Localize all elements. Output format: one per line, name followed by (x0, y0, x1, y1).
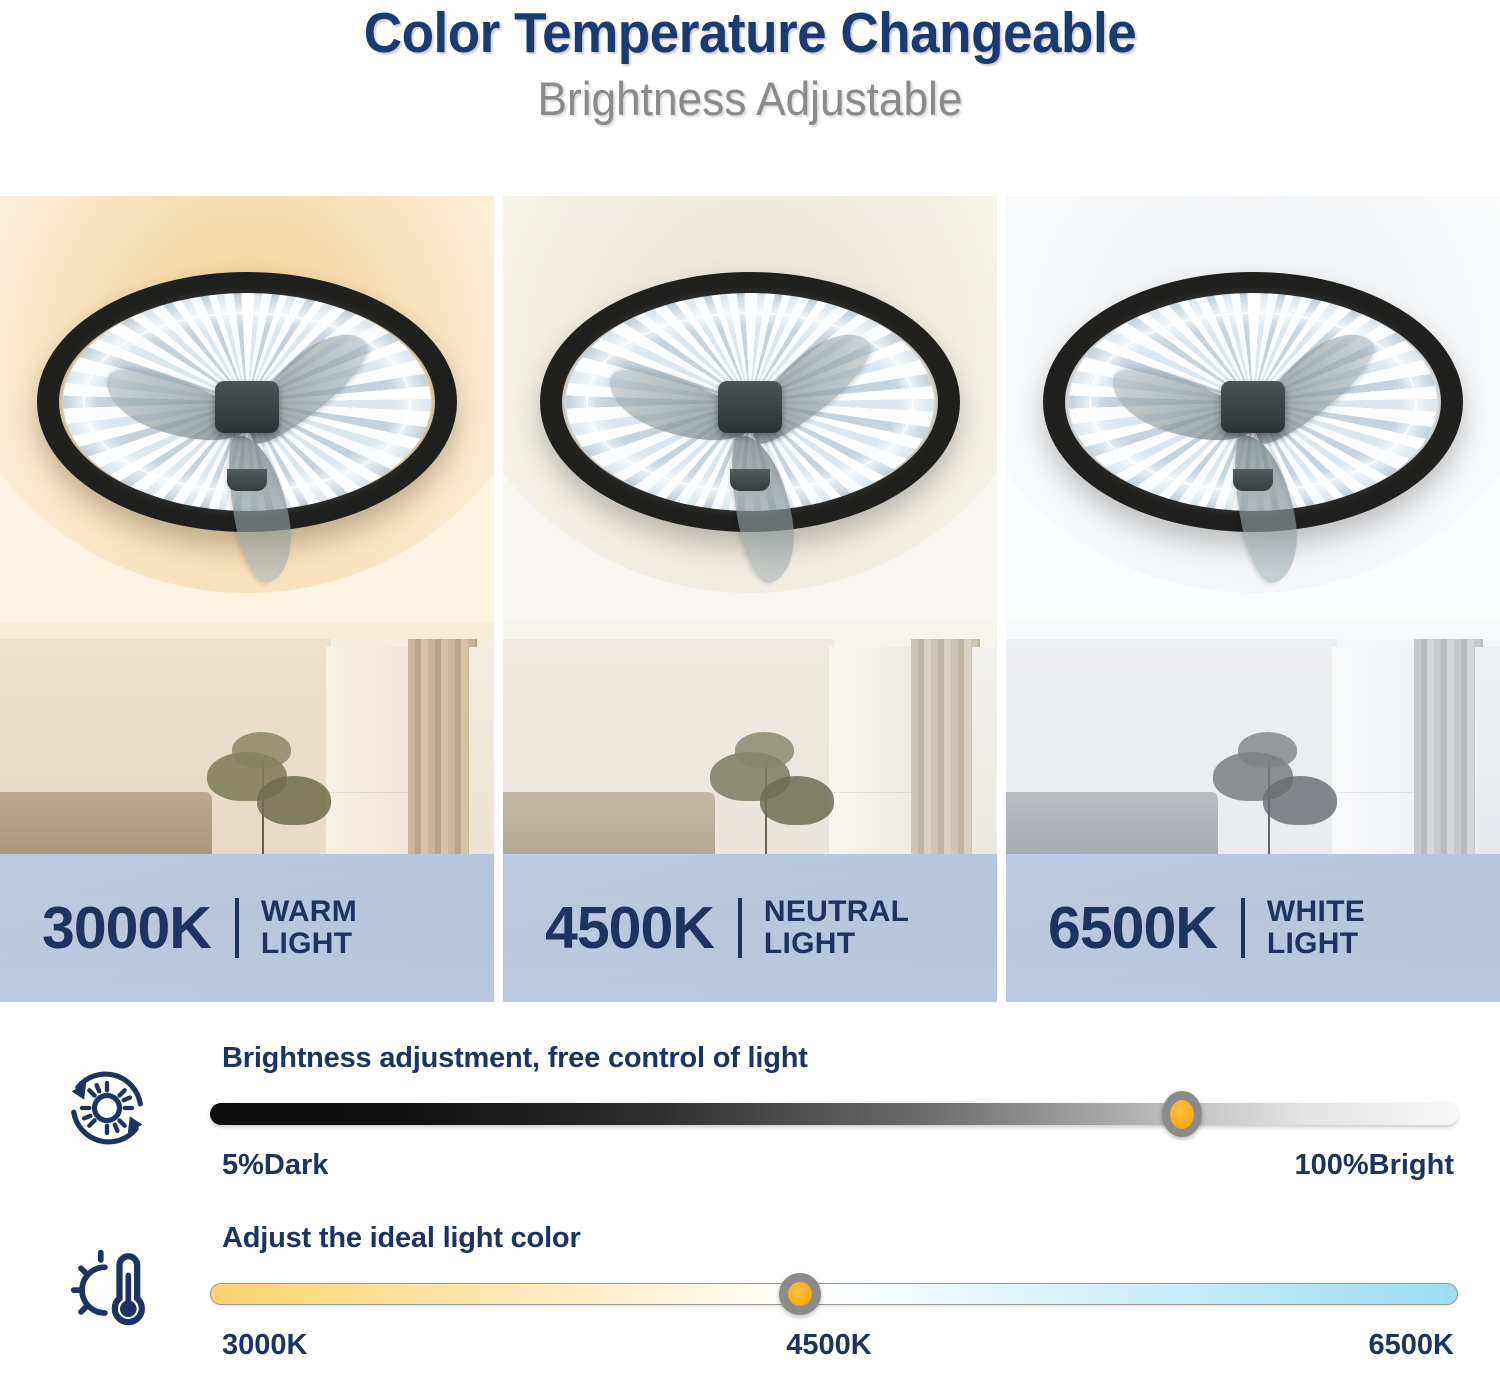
color-temperature-slider[interactable] (200, 1277, 1458, 1311)
controls-section: Brightness adjustment, free control of l… (0, 1030, 1500, 1390)
panel-4500k: 4500K NEUTRAL LIGHT (503, 196, 997, 1002)
light-type-label: WARM LIGHT (261, 896, 357, 961)
color-temp-mid-label: 4500K (786, 1329, 871, 1362)
color-temperature-control-row: Adjust the ideal light color 3000K 4500K… (0, 1210, 1500, 1390)
light-type-line-1: WARM (261, 896, 357, 928)
panel-3000k: 3000K WARM LIGHT (0, 196, 494, 1002)
color-temperature-slider-thumb[interactable] (779, 1273, 821, 1315)
plant-leaves (232, 732, 291, 768)
brightness-slider[interactable] (200, 1097, 1458, 1131)
page-title: Color Temperature Changeable (53, 4, 1448, 62)
sun-thermometer-icon (55, 1236, 159, 1340)
light-type-label: WHITE LIGHT (1267, 896, 1365, 961)
divider (235, 898, 239, 958)
plant-leaves (735, 732, 794, 768)
fan-hub-cap (730, 469, 770, 491)
header: Color Temperature Changeable Brightness … (0, 0, 1500, 129)
color-temperature-scale: 3000K 4500K 6500K (200, 1329, 1458, 1367)
plant-leaves (1238, 732, 1297, 768)
brightness-control-body: Brightness adjustment, free control of l… (200, 1030, 1458, 1187)
brightness-scale: 5%Dark 100%Bright (200, 1149, 1458, 1187)
light-type-label: NEUTRAL LIGHT (764, 896, 909, 961)
page-subtitle: Brightness Adjustable (45, 70, 1455, 129)
fan-motor-hub (1221, 381, 1285, 433)
panel-6500k: 6500K WHITE LIGHT (1006, 196, 1500, 1002)
color-temperature-panels: 3000K WARM LIGHT (0, 196, 1500, 1002)
plant-leaves (760, 776, 834, 824)
kelvin-value: 3000K (42, 899, 211, 958)
kelvin-value: 4500K (545, 899, 714, 958)
brightness-heading: Brightness adjustment, free control of l… (222, 1042, 1458, 1075)
fan-hub-cap (1233, 469, 1273, 491)
brightness-min-label: 5%Dark (222, 1149, 328, 1182)
ceiling-fan-light-fixture (1043, 272, 1463, 532)
brightness-slider-track[interactable] (210, 1103, 1458, 1125)
divider (1241, 898, 1245, 958)
wardrobe-seam (829, 792, 913, 793)
brightness-slider-thumb[interactable] (1162, 1091, 1202, 1137)
ceiling-fan-light-fixture (540, 272, 960, 532)
ceiling-fan-light-fixture (37, 272, 457, 532)
wardrobe-seam (1332, 792, 1416, 793)
plant-leaves (1263, 776, 1337, 824)
brightness-max-label: 100%Bright (1294, 1149, 1454, 1182)
color-temp-min-label: 3000K (222, 1329, 307, 1362)
fan-motor-hub (718, 381, 782, 433)
light-type-line-1: NEUTRAL (764, 896, 909, 928)
kelvin-label-group: 3000K WARM LIGHT (0, 854, 494, 1002)
kelvin-label-group: 4500K NEUTRAL LIGHT (503, 854, 997, 1002)
wardrobe-seam (326, 792, 410, 793)
color-temp-max-label: 6500K (1369, 1329, 1454, 1362)
fan-hub-cap (227, 469, 267, 491)
color-temperature-slider-track[interactable] (210, 1283, 1458, 1305)
plant-leaves (257, 776, 331, 824)
kelvin-value: 6500K (1048, 899, 1217, 958)
light-type-line-2: LIGHT (764, 928, 909, 960)
fan-motor-hub (215, 381, 279, 433)
label-band-3000k: 3000K WARM LIGHT (0, 854, 494, 1002)
kelvin-label-group: 6500K WHITE LIGHT (1006, 854, 1500, 1002)
label-band-6500k: 6500K WHITE LIGHT (1006, 854, 1500, 1002)
brightness-control-row: Brightness adjustment, free control of l… (0, 1030, 1500, 1210)
color-temperature-control-body: Adjust the ideal light color 3000K 4500K… (200, 1210, 1458, 1367)
light-type-line-1: WHITE (1267, 896, 1365, 928)
brightness-cycle-icon (55, 1056, 159, 1160)
label-band-4500k: 4500K NEUTRAL LIGHT (503, 854, 997, 1002)
color-temperature-heading: Adjust the ideal light color (222, 1222, 1458, 1255)
light-type-line-2: LIGHT (261, 928, 357, 960)
light-type-line-2: LIGHT (1267, 928, 1365, 960)
divider (738, 898, 742, 958)
